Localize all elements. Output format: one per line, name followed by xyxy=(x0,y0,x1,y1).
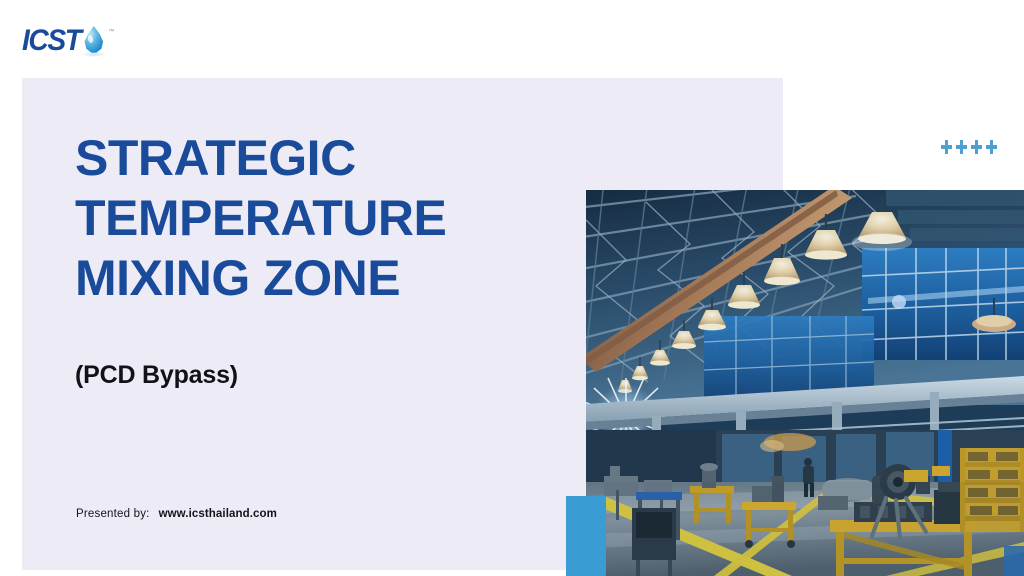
plus-icon xyxy=(941,139,952,155)
presented-by-label: Presented by: xyxy=(76,508,150,520)
company-logo[interactable]: ICST ™ xyxy=(22,17,142,65)
trademark-symbol: ™ xyxy=(108,29,114,35)
plus-icon xyxy=(956,139,967,155)
page-title: STRATEGIC TEMPERATURE MIXING ZONE xyxy=(75,128,545,308)
plus-icon xyxy=(986,139,997,155)
footer-attribution: Presented by: www.icsthailand.com xyxy=(76,508,277,520)
accent-bar xyxy=(566,496,606,576)
presentation-slide: ICST ™ STRATEGIC TEMPERATURE MIXING ZONE… xyxy=(0,0,1024,576)
plus-decoration-group xyxy=(941,139,997,155)
title-line-1: STRATEGIC xyxy=(75,128,545,188)
website-url[interactable]: www.icsthailand.com xyxy=(159,508,277,520)
water-droplet-icon xyxy=(81,24,107,58)
title-line-3: MIXING ZONE xyxy=(75,248,545,308)
factory-photo xyxy=(586,190,1024,576)
logo-wordmark: ICST xyxy=(22,26,81,56)
title-line-2: TEMPERATURE xyxy=(75,188,545,248)
plus-icon xyxy=(971,139,982,155)
page-subtitle: (PCD Bypass) xyxy=(75,361,238,390)
